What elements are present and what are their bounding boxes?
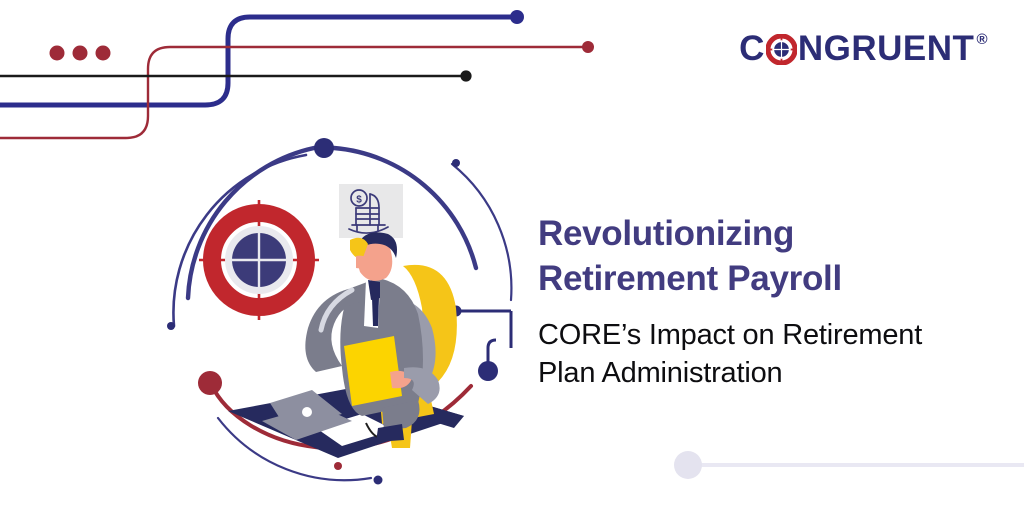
circuit-line-red (0, 47, 583, 138)
slider-track (698, 463, 1024, 467)
svg-text:$: $ (356, 195, 362, 206)
orbit-dot-left (167, 322, 175, 330)
page-subtitle: CORE’s Impact on Retirement Plan Adminis… (538, 316, 988, 393)
circuit-line-navy (0, 17, 512, 105)
slider-knob (674, 451, 702, 479)
red-arc-mid-dot (334, 462, 342, 470)
hero-illustration: $ (166, 128, 536, 498)
brand-wordmark: C NGRUENT ® (739, 31, 988, 66)
brand-target-icon (766, 34, 797, 65)
hero-banner: C NGRUENT ® (0, 0, 1024, 530)
speech-bubble-body (339, 184, 403, 238)
orbit-dot-top (314, 138, 334, 158)
target-crosshair-icon (199, 200, 319, 320)
decor-dot-1 (50, 46, 65, 61)
brand-wordmark-c: C (739, 31, 765, 66)
circuit-endpoint-navy (510, 10, 524, 24)
orbit-dot-bottom (374, 476, 383, 485)
decor-dot-2 (73, 46, 88, 61)
circuit-endpoint-red (582, 41, 594, 53)
connector-dot-outer (478, 361, 498, 381)
circuit-connectors (451, 306, 512, 382)
figure-tie (372, 298, 379, 326)
yellow-document (344, 336, 402, 406)
subhead-line-1: CORE’s Impact on Retirement (538, 319, 922, 351)
hero-text-block: Revolutionizing Retirement Payroll CORE’… (538, 212, 988, 392)
headline-line-2: Retirement Payroll (538, 259, 842, 298)
red-arc-endpoint-dot (198, 371, 222, 395)
subhead-line-2: Plan Administration (538, 357, 782, 389)
brand-wordmark-rest: NGRUENT (798, 31, 975, 66)
laptop-logo-icon (302, 407, 312, 417)
decorative-slider (674, 451, 1024, 479)
orbit-dot-upper-right (452, 159, 460, 167)
circuit-endpoint-dark (460, 70, 471, 81)
registered-trademark-icon: ® (976, 32, 988, 47)
headline-line-1: Revolutionizing (538, 214, 794, 253)
decor-dot-3 (96, 46, 111, 61)
page-title: Revolutionizing Retirement Payroll (538, 212, 988, 302)
brand-logo[interactable]: C NGRUENT ® (739, 26, 988, 70)
